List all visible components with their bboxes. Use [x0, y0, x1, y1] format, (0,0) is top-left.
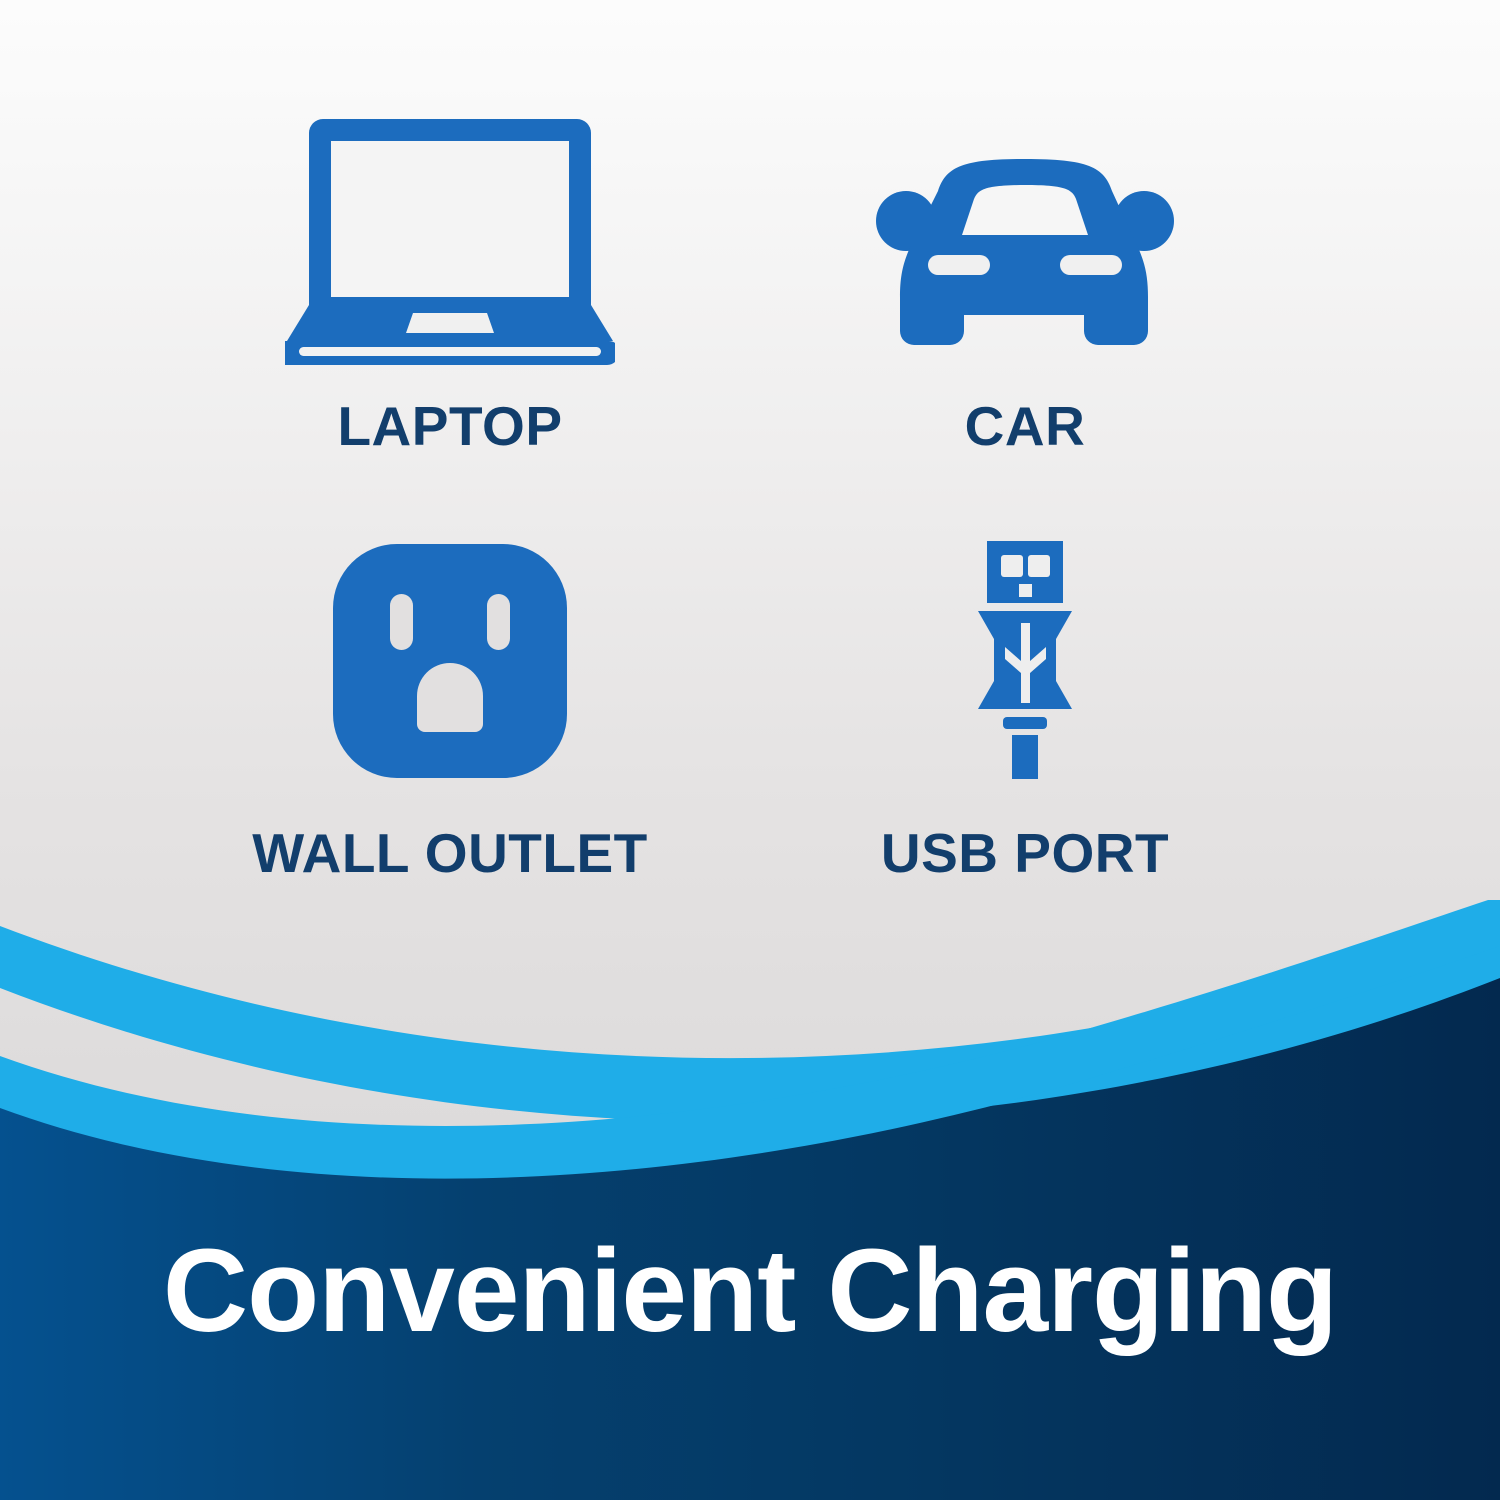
promo-graphic: LAPTOP CAR [0, 0, 1500, 1500]
feature-icon-grid: LAPTOP CAR [0, 0, 1500, 930]
feature-label-wall-outlet: WALL OUTLET [252, 826, 648, 881]
car-icon [876, 100, 1174, 365]
laptop-icon [285, 100, 615, 365]
feature-label-usb-port: USB PORT [881, 826, 1169, 881]
wave-banner-art [0, 900, 1500, 1500]
feature-label-laptop: LAPTOP [337, 399, 562, 454]
feature-item-car: CAR [770, 100, 1280, 454]
feature-item-laptop: LAPTOP [195, 100, 705, 454]
feature-item-usb-port: USB PORT [770, 530, 1280, 881]
feature-item-wall-outlet: WALL OUTLET [150, 530, 750, 881]
wall-outlet-icon [333, 530, 567, 792]
usb-port-icon [970, 530, 1080, 792]
feature-label-car: CAR [965, 399, 1086, 454]
